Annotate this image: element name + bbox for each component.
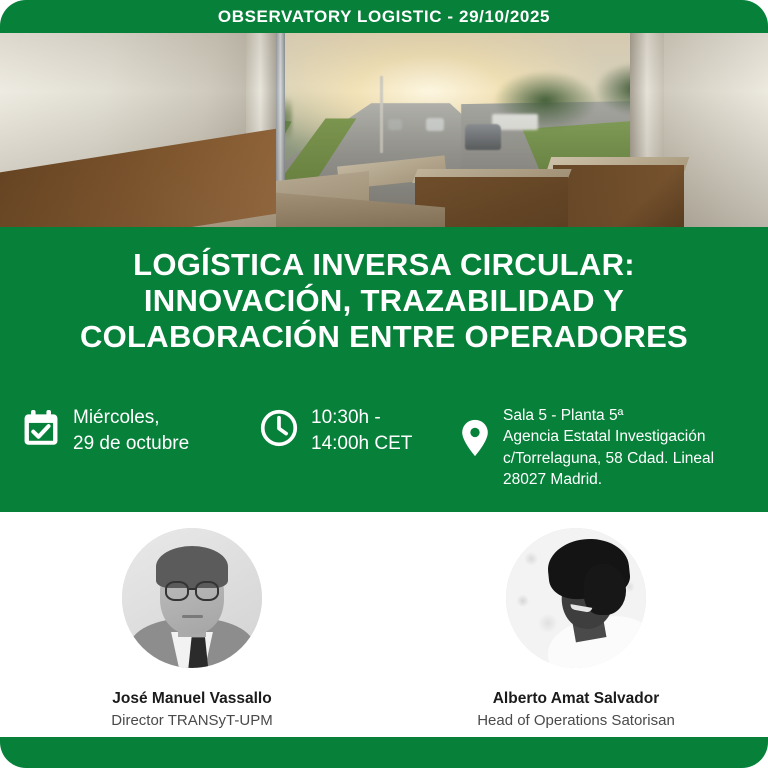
header-bar: OBSERVATORY LOGISTIC - 29/10/2025 [0,0,768,33]
speaker-card: José Manuel Vassallo Director TRANSyT-UP… [0,512,384,737]
speaker-name: Alberto Amat Salvador [493,690,660,708]
calendar-check-icon [20,407,62,454]
speaker-role: Director TRANSyT-UPM [111,712,272,729]
event-info-row: Miércoles, 29 de octubre 10:30h - 14:00h… [0,405,768,490]
header-title: OBSERVATORY LOGISTIC - 29/10/2025 [218,7,550,27]
speaker-name: José Manuel Vassallo [112,690,271,708]
delivery-van-boxes-photo [0,33,768,227]
avatar-mouth [182,615,203,618]
avatar-hair [156,546,229,588]
avatar [122,528,262,668]
avatar-glasses-right [195,581,219,601]
speakers-section: José Manuel Vassallo Director TRANSyT-UP… [0,512,768,737]
event-time-text: 10:30h - 14:00h CET [311,405,412,456]
event-time: 10:30h - 14:00h CET [258,405,458,456]
event-date-text: Miércoles, 29 de octubre [73,405,189,456]
event-location-text: Sala 5 - Planta 5ª Agencia Estatal Inves… [503,405,714,490]
talk-title-line-2: INNOVACIÓN, TRAZABILIDAD Y [14,283,754,319]
event-poster: OBSERVATORY LOGISTIC - 29/10/2025 [0,0,768,768]
page-title: LOGÍSTICA INVERSA CIRCULAR: INNOVACIÓN, … [0,247,768,355]
event-date: Miércoles, 29 de octubre [20,405,258,456]
avatar [506,528,646,668]
clock-icon [258,407,300,454]
speaker-role: Head of Operations Satorisan [477,712,675,729]
avatar-glasses-bridge [189,588,196,590]
avatar-glasses-left [165,581,189,601]
event-location: Sala 5 - Planta 5ª Agencia Estatal Inves… [458,405,750,490]
talk-title-line-3: COLABORACIÓN ENTRE OPERADORES [14,319,754,355]
title-block: LOGÍSTICA INVERSA CIRCULAR: INNOVACIÓN, … [0,227,768,512]
photo-vignette [0,33,768,227]
map-pin-icon [458,418,492,463]
footer-bar [0,737,768,768]
talk-title-line-1: LOGÍSTICA INVERSA CIRCULAR: [14,247,754,283]
speaker-card: Alberto Amat Salvador Head of Operations… [384,512,768,737]
hero-photo [0,33,768,227]
